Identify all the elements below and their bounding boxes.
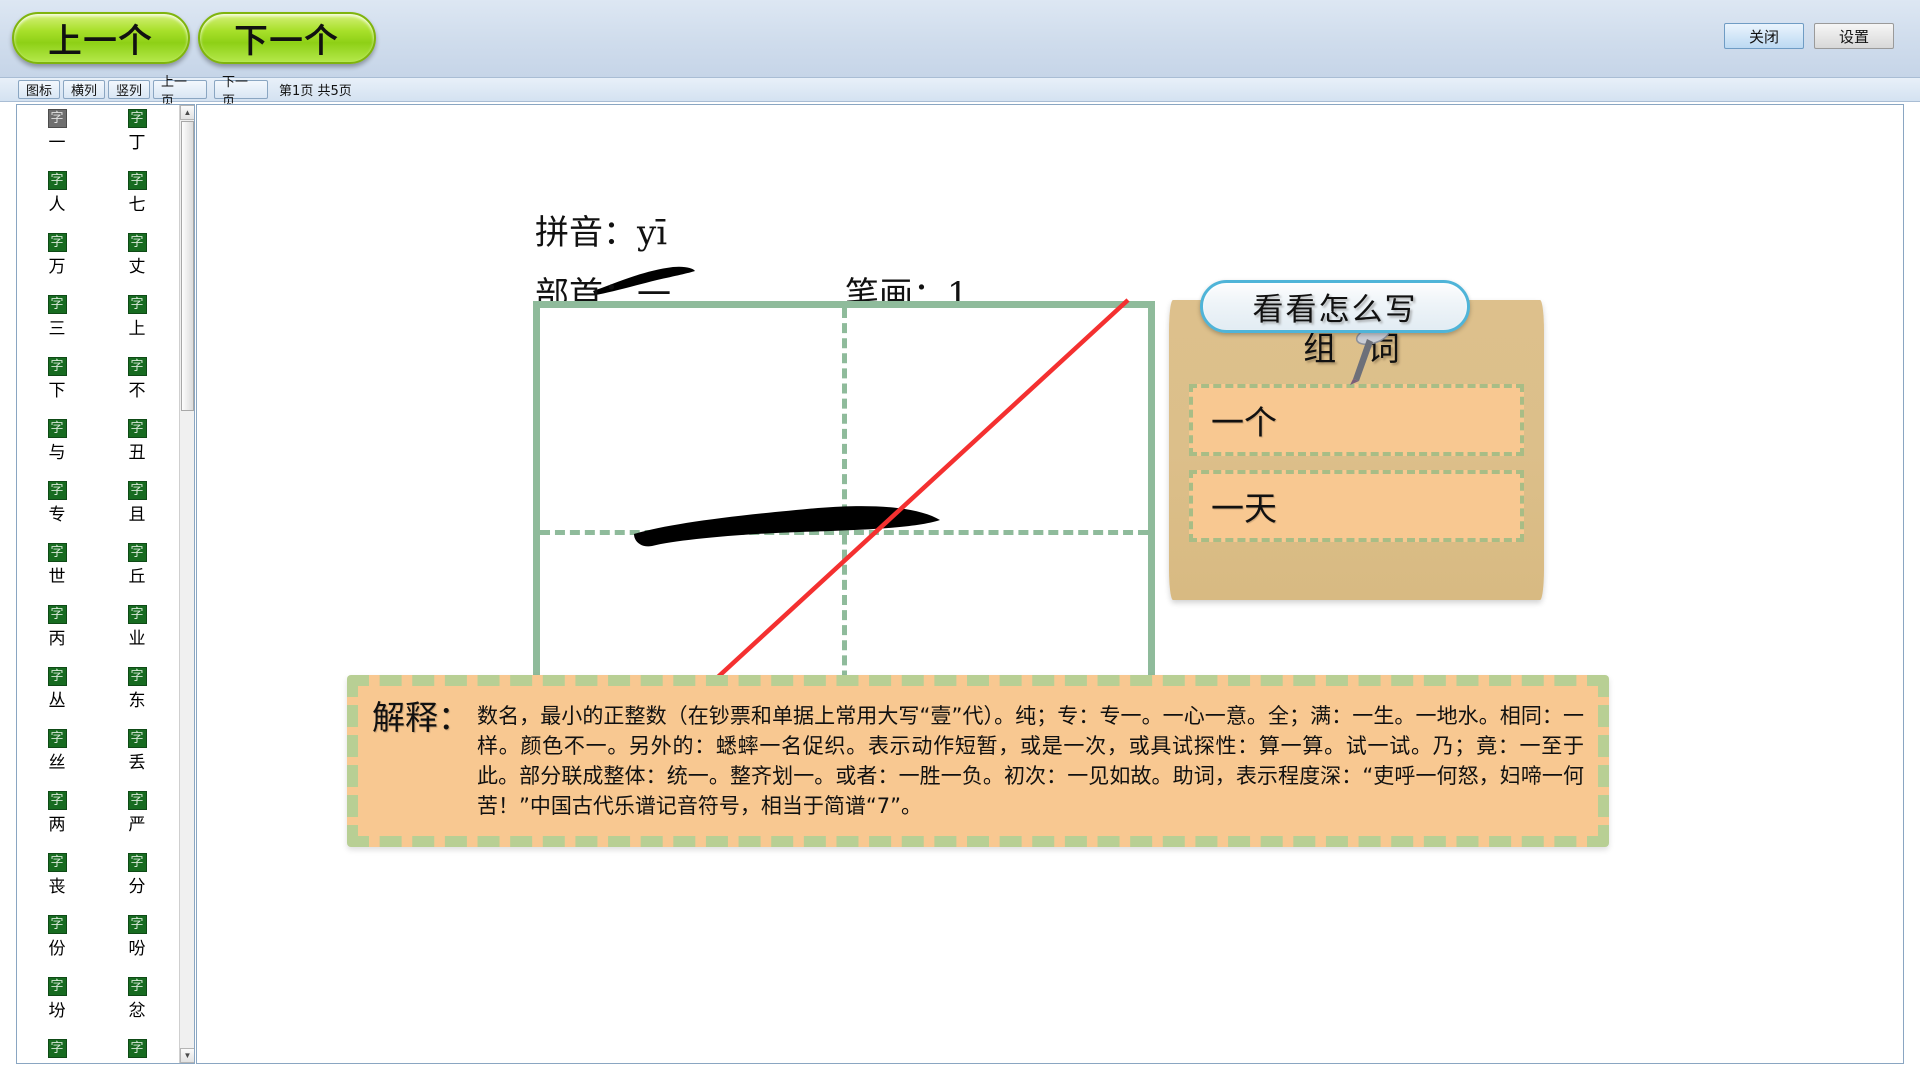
view-columns-label: 竖列 (116, 80, 142, 99)
character-list-item[interactable]: 字丙 (17, 603, 97, 649)
character-stroke-shape (628, 494, 968, 554)
character-list-item[interactable]: 字一 (17, 107, 97, 153)
character-list-item-label: 人 (49, 195, 66, 215)
character-list-item-label: 丧 (49, 877, 66, 897)
character-list-item-label: 丁 (129, 133, 146, 153)
character-file-icon: 字 (128, 295, 147, 314)
character-list-item[interactable]: 字三 (17, 293, 97, 339)
next-page-button[interactable]: 下一页 (214, 80, 268, 99)
character-file-icon: 字 (48, 295, 67, 314)
settings-button-label: 设置 (1839, 26, 1869, 47)
character-file-icon: 字 (128, 481, 147, 500)
show-stroke-order-label: 看看怎么写 (1253, 284, 1418, 329)
character-list-item[interactable]: 字个 (97, 1037, 177, 1064)
character-list-item-label: 丛 (49, 691, 66, 711)
character-file-icon: 字 (128, 977, 147, 996)
next-character-button[interactable]: 下一个 (198, 12, 376, 64)
character-list-item-label: 分 (129, 877, 146, 897)
character-list-item-label: 丑 (129, 443, 146, 463)
character-list-item-label: 粉 (49, 1063, 66, 1064)
character-list-item[interactable]: 字与 (17, 417, 97, 463)
character-list-item[interactable]: 字专 (17, 479, 97, 525)
show-stroke-order-button[interactable]: 看看怎么写 (1200, 280, 1470, 333)
previous-page-button[interactable]: 上一页 (153, 80, 207, 99)
view-columns-button[interactable]: 竖列 (108, 80, 150, 99)
word-text: 一个 (1211, 396, 1277, 444)
character-list-sidebar[interactable]: 字一字丁字人字七字万字丈字三字上字下字不字与字丑字专字且字世字丘字丙字业字丛字东… (16, 104, 195, 1064)
sidebar-scrollbar[interactable]: ▲ ▼ (179, 105, 194, 1063)
character-list-item[interactable]: 字世 (17, 541, 97, 587)
character-list-item[interactable]: 字不 (97, 355, 177, 401)
character-file-icon: 字 (128, 853, 147, 872)
character-list-item-label: 业 (129, 629, 146, 649)
character-list-item[interactable]: 字上 (97, 293, 177, 339)
character-file-icon: 字 (48, 543, 67, 562)
character-file-icon: 字 (48, 109, 67, 128)
character-file-icon: 字 (128, 419, 147, 438)
character-list-item-label: 万 (49, 257, 66, 277)
character-list-item[interactable]: 字七 (97, 169, 177, 215)
character-list-item-label: 上 (129, 319, 146, 339)
character-list-item-label: 且 (129, 505, 146, 525)
character-list-item[interactable]: 字万 (17, 231, 97, 277)
character-list-item[interactable]: 字丛 (17, 665, 97, 711)
character-grid: 字一字丁字人字七字万字丈字三字上字下字不字与字丑字专字且字世字丘字丙字业字丛字东… (17, 107, 177, 1064)
character-file-icon: 字 (128, 1039, 147, 1058)
character-file-icon: 字 (128, 791, 147, 810)
character-list-item-label: 不 (129, 381, 146, 401)
character-list-item-label: 丈 (129, 257, 146, 277)
character-list-item-label: 坋 (49, 1001, 66, 1021)
character-list-item[interactable]: 字丈 (97, 231, 177, 277)
character-list-item[interactable]: 字份 (17, 913, 97, 959)
character-list-item[interactable]: 字吩 (97, 913, 177, 959)
view-rows-button[interactable]: 横列 (63, 80, 105, 99)
explanation-text: 数名，最小的正整数（在钞票和单据上常用大写“壹”代）。纯；专：专一。一心一意。全… (477, 696, 1584, 821)
character-list-item[interactable]: 字下 (17, 355, 97, 401)
character-list-item[interactable]: 字坋 (17, 975, 97, 1021)
character-list-item[interactable]: 字丝 (17, 727, 97, 773)
character-file-icon: 字 (128, 357, 147, 376)
next-character-label: 下一个 (235, 14, 340, 62)
character-list-item-label: 丢 (129, 753, 146, 773)
view-rows-label: 横列 (71, 80, 97, 99)
top-bar: 上一个 下一个 关闭 设置 (0, 0, 1920, 78)
character-list-item[interactable]: 字丑 (97, 417, 177, 463)
character-file-icon: 字 (128, 667, 147, 686)
character-file-icon: 字 (128, 171, 147, 190)
close-button-label: 关闭 (1749, 26, 1779, 47)
scroll-down-arrow-icon[interactable]: ▼ (180, 1048, 195, 1063)
character-file-icon: 字 (48, 915, 67, 934)
next-page-label: 下一页 (222, 71, 260, 109)
character-list-item[interactable]: 字业 (97, 603, 177, 649)
character-file-icon: 字 (48, 853, 67, 872)
scrollbar-thumb[interactable] (181, 121, 194, 411)
character-list-item-label: 下 (49, 381, 66, 401)
character-list-item-label: 严 (129, 815, 146, 835)
character-list-item[interactable]: 字丁 (97, 107, 177, 153)
character-file-icon: 字 (48, 481, 67, 500)
previous-character-button[interactable]: 上一个 (12, 12, 190, 64)
character-file-icon: 字 (48, 1039, 67, 1058)
character-list-item-label: 东 (129, 691, 146, 711)
character-file-icon: 字 (128, 605, 147, 624)
character-file-icon: 字 (48, 171, 67, 190)
character-list-item-label: 忿 (129, 1001, 146, 1021)
character-file-icon: 字 (48, 729, 67, 748)
character-list-item[interactable]: 字两 (17, 789, 97, 835)
character-file-icon: 字 (48, 977, 67, 996)
character-file-icon: 字 (48, 357, 67, 376)
character-file-icon: 字 (128, 233, 147, 252)
pinyin-line: 拼音：yī (535, 205, 667, 254)
character-list-item[interactable]: 字分 (97, 851, 177, 897)
character-list-item-label: 一 (49, 133, 66, 153)
character-file-icon: 字 (48, 233, 67, 252)
scroll-up-arrow-icon[interactable]: ▲ (180, 105, 195, 120)
character-list-item[interactable]: 字丘 (97, 541, 177, 587)
view-icons-label: 图标 (26, 80, 52, 99)
character-list-item[interactable]: 字忿 (97, 975, 177, 1021)
view-toolbar: 图标 横列 竖列 上一页 下一页 第1页 共5页 (0, 78, 1920, 102)
character-list-item-label: 个 (129, 1063, 146, 1064)
character-list-item-label: 丝 (49, 753, 66, 773)
character-file-icon: 字 (48, 419, 67, 438)
character-list-item[interactable]: 字严 (97, 789, 177, 835)
view-icons-button[interactable]: 图标 (18, 80, 60, 99)
page-indicator: 第1页 共5页 (279, 80, 352, 99)
previous-character-label: 上一个 (49, 14, 154, 62)
word-text: 一天 (1211, 482, 1277, 530)
character-list-item-label: 与 (49, 443, 66, 463)
character-file-icon: 字 (128, 109, 147, 128)
character-list-item[interactable]: 字且 (97, 479, 177, 525)
character-list-item-label: 丘 (129, 567, 146, 587)
character-list-item-label: 专 (49, 505, 66, 525)
character-list-item-label: 份 (49, 939, 66, 959)
explanation-panel: 解释： 数名，最小的正整数（在钞票和单据上常用大写“壹”代）。纯；专：专一。一心… (347, 675, 1609, 847)
word-slot[interactable]: 一个 (1189, 384, 1524, 456)
settings-button[interactable]: 设置 (1814, 23, 1894, 49)
character-list-item-label: 两 (49, 815, 66, 835)
character-file-icon: 字 (48, 667, 67, 686)
character-list-item[interactable]: 字丢 (97, 727, 177, 773)
character-list-item[interactable]: 字丧 (17, 851, 97, 897)
character-list-item-label: 吩 (129, 939, 146, 959)
character-file-icon: 字 (48, 605, 67, 624)
character-file-icon: 字 (128, 729, 147, 748)
character-list-item[interactable]: 字东 (97, 665, 177, 711)
explanation-label: 解释： (372, 696, 471, 740)
character-list-item[interactable]: 字粉 (17, 1037, 97, 1064)
character-list-item[interactable]: 字人 (17, 169, 97, 215)
character-list-item-label: 丙 (49, 629, 66, 649)
character-file-icon: 字 (48, 791, 67, 810)
character-list-item-label: 三 (49, 319, 66, 339)
character-list-item-label: 七 (129, 195, 146, 215)
character-file-icon: 字 (128, 915, 147, 934)
character-file-icon: 字 (128, 543, 147, 562)
word-slot[interactable]: 一天 (1189, 470, 1524, 542)
main-content-panel: 重读 拼音： (196, 104, 1904, 1064)
previous-page-label: 上一页 (161, 71, 199, 109)
close-button[interactable]: 关闭 (1724, 23, 1804, 49)
character-list-item-label: 世 (49, 567, 66, 587)
